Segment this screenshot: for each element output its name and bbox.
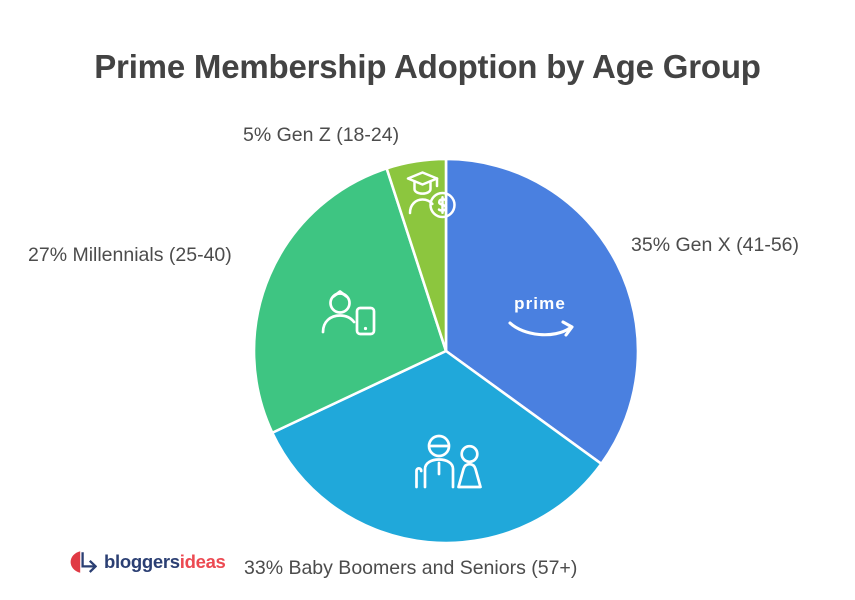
pie-label-genx: 35% Gen X (41-56) (631, 233, 799, 257)
logo-text-bloggers: bloggers (104, 551, 180, 572)
infographic-canvas: Prime Membership Adoption by Age Group p… (0, 0, 855, 600)
pie-label-genz: 5% Gen Z (18-24) (243, 123, 399, 147)
bloggersideas-logo-text: bloggersideas (104, 552, 226, 572)
pie-label-millennials: 27% Millennials (25-40) (28, 243, 232, 267)
pie-label-boomers: 33% Baby Boomers and Seniors (57+) (244, 556, 577, 580)
logo-text-ideas: ideas (180, 551, 226, 572)
bloggersideas-logo[interactable]: bloggersideas (70, 548, 226, 576)
pie-chart: prime (250, 155, 642, 547)
page-title: Prime Membership Adoption by Age Group (0, 47, 855, 87)
bloggersideas-logo-mark-icon (70, 550, 97, 574)
pie-chart-svg: prime (250, 155, 642, 547)
logo-arrow-shape (71, 551, 81, 573)
